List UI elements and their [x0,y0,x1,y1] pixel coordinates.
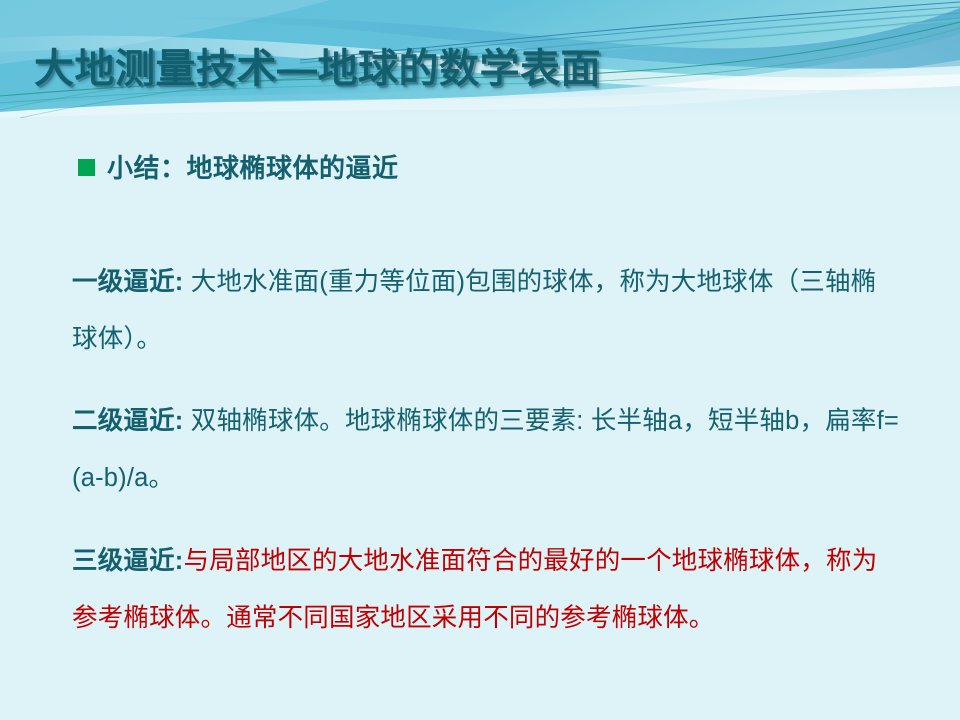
paragraph-level-2: 二级逼近: 双轴椭球体。地球椭球体的三要素: 长半轴a，短半轴b，扁率f=(a-… [72,393,902,507]
paragraph-level-3: 三级逼近:与局部地区的大地水准面符合的最好的一个地球椭球体，称为参考椭球体。通常… [72,533,902,647]
paragraph-2-body: 双轴椭球体。地球椭球体的三要素: 长半轴a，短半轴b，扁率f=(a-b)/a。 [72,407,899,492]
paragraph-1-body: 大地水准面(重力等位面)包围的球体，称为大地球体（三轴椭球体）。 [72,268,876,353]
summary-heading: 小结：地球椭球体的逼近 [107,148,399,185]
paragraph-3-lead: 三级逼近: [72,547,184,575]
paragraph-level-1: 一级逼近: 大地水准面(重力等位面)包围的球体，称为大地球体（三轴椭球体）。 [72,254,902,368]
paragraph-1-lead: 一级逼近: [72,268,184,296]
paragraph-2-lead: 二级逼近: [72,407,184,435]
page-title: 大地测量技术—地球的数学表面 [34,41,934,97]
body-content: 一级逼近: 大地水准面(重力等位面)包围的球体，称为大地球体（三轴椭球体）。 二… [72,228,902,672]
slide-root: 大地测量技术—地球的数学表面 小结：地球椭球体的逼近 一级逼近: 大地水准面(重… [0,0,960,720]
summary-bullet-row: 小结：地球椭球体的逼近 [78,148,399,185]
green-square-bullet-icon [78,159,95,176]
paragraph-3-body: 与局部地区的大地水准面符合的最好的一个地球椭球体，称为参考椭球体。通常不同国家地… [72,547,877,632]
